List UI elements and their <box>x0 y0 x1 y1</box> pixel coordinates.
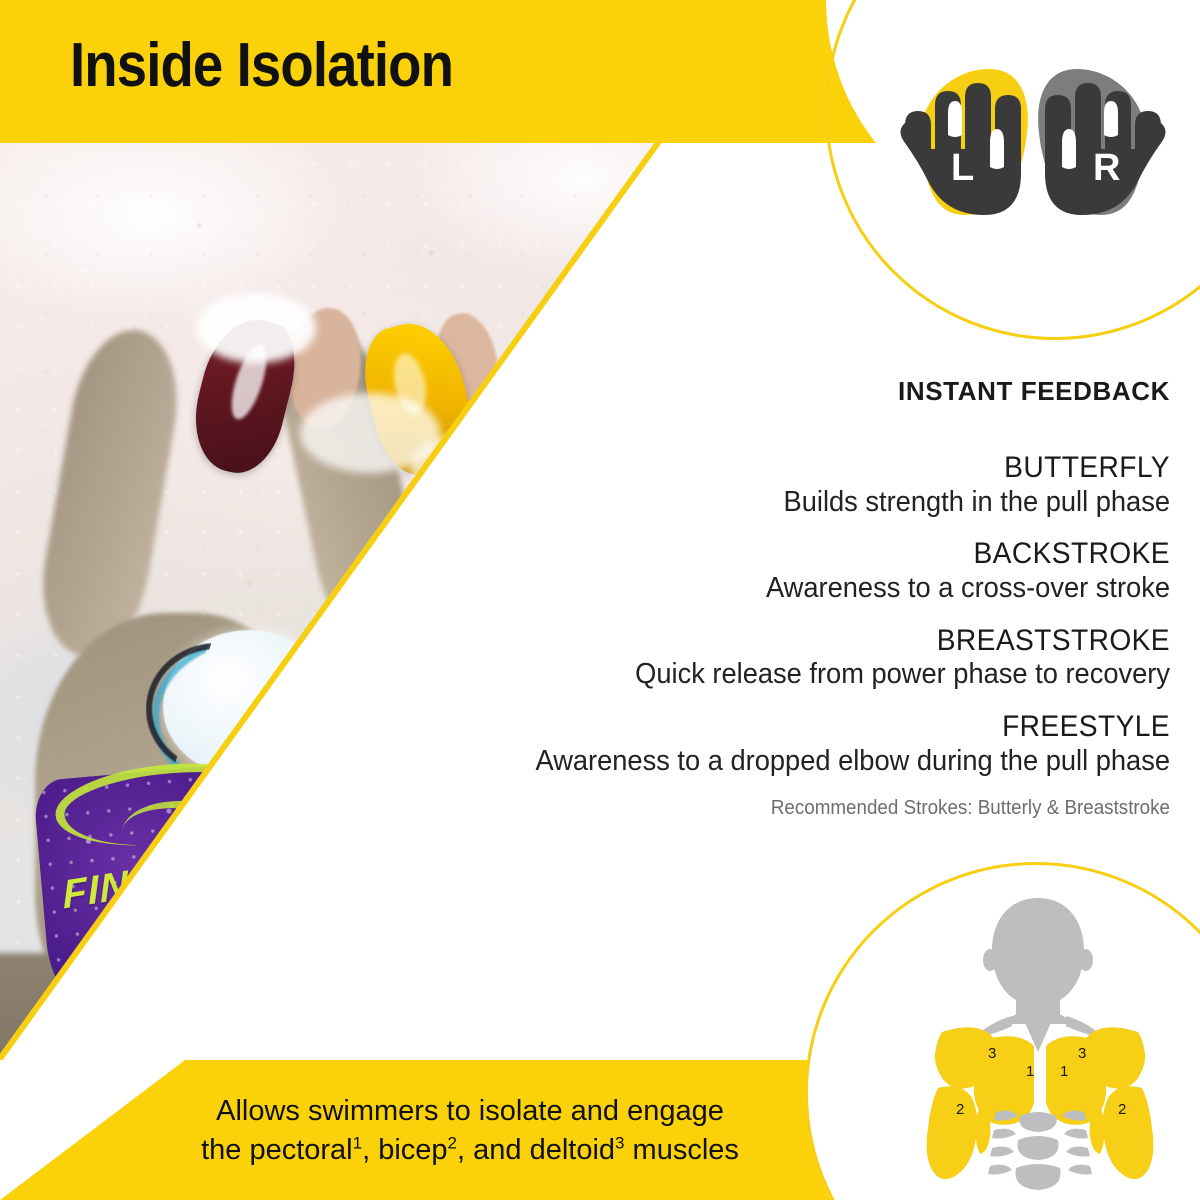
footer-caption-line-2: the pectoral1, bicep2, and deltoid3 musc… <box>120 1131 820 1170</box>
page-title: Inside Isolation <box>70 30 453 101</box>
stroke-block-breaststroke: BREASTSTROKE Quick release from power ph… <box>390 624 1170 692</box>
anatomy-label-bicep-right: 2 <box>1118 1101 1126 1118</box>
swim-cap-text: #Te <box>271 701 305 727</box>
anatomy-label-pectoral-left: 1 <box>1026 1063 1034 1080</box>
stroke-name: BACKSTROKE <box>437 537 1170 571</box>
footer-caption-line-1: Allows swimmers to isolate and engage <box>120 1092 820 1131</box>
anatomy-ear-left <box>983 949 997 971</box>
caption-deltoid: , and deltoid <box>457 1134 615 1166</box>
water-splash-4 <box>60 943 240 1053</box>
left-paddle-label: L <box>951 147 974 189</box>
anatomy-label-deltoid-right: 3 <box>1078 1045 1086 1062</box>
anatomy-head <box>992 898 1084 1024</box>
right-paddle-label: R <box>1093 147 1120 189</box>
infographic-root: #Te FINIS Inside Isolation <box>0 0 1200 1200</box>
stroke-block-backstroke: BACKSTROKE Awareness to a cross-over str… <box>390 537 1170 605</box>
anatomy-label-deltoid-left: 3 <box>988 1045 996 1062</box>
stroke-description: Awareness to a cross-over stroke <box>437 571 1170 606</box>
water-splash-1 <box>196 293 316 363</box>
left-paddle-icon[interactable]: L <box>901 69 1028 215</box>
caption-pectoral: the pectoral <box>201 1134 353 1166</box>
anatomy-diagram: 3 3 1 1 2 2 <box>880 880 1200 1200</box>
stroke-description: Builds strength in the pull phase <box>437 485 1170 520</box>
stroke-block-butterfly: BUTTERFLY Builds strength in the pull ph… <box>390 451 1170 519</box>
feedback-panel: INSTANT FEEDBACK BUTTERFLY Builds streng… <box>390 376 1170 820</box>
anatomy-label-pectoral-right: 1 <box>1060 1063 1068 1080</box>
stroke-block-freestyle: FREESTYLE Awareness to a dropped elbow d… <box>390 710 1170 778</box>
right-paddle-icon[interactable]: R <box>1038 69 1165 215</box>
anatomy-bicep-right <box>1103 1086 1154 1179</box>
paddle-icons-group: L R <box>893 55 1173 235</box>
anatomy-bicep-left <box>927 1086 978 1179</box>
swimmer-legs <box>0 953 220 1060</box>
anatomy-ear-right <box>1079 949 1093 971</box>
recommended-strokes-note: Recommended Strokes: Butterly & Breastst… <box>437 797 1170 820</box>
stroke-name: BUTTERFLY <box>437 451 1170 485</box>
caption-sup-2: 2 <box>448 1133 457 1152</box>
caption-sup-3: 3 <box>615 1133 624 1152</box>
caption-sup-1: 1 <box>353 1133 362 1152</box>
caption-muscles: muscles <box>625 1134 739 1166</box>
stroke-description: Quick release from power phase to recove… <box>437 657 1170 692</box>
stroke-description: Awareness to a dropped elbow during the … <box>437 744 1170 779</box>
footer-caption: Allows swimmers to isolate and engage th… <box>120 1092 820 1170</box>
anatomy-label-bicep-left: 2 <box>956 1101 964 1118</box>
stroke-name: FREESTYLE <box>437 710 1170 744</box>
caption-bicep: , bicep <box>362 1134 447 1166</box>
feedback-heading: INSTANT FEEDBACK <box>390 376 1170 407</box>
stroke-name: BREASTSTROKE <box>437 624 1170 658</box>
